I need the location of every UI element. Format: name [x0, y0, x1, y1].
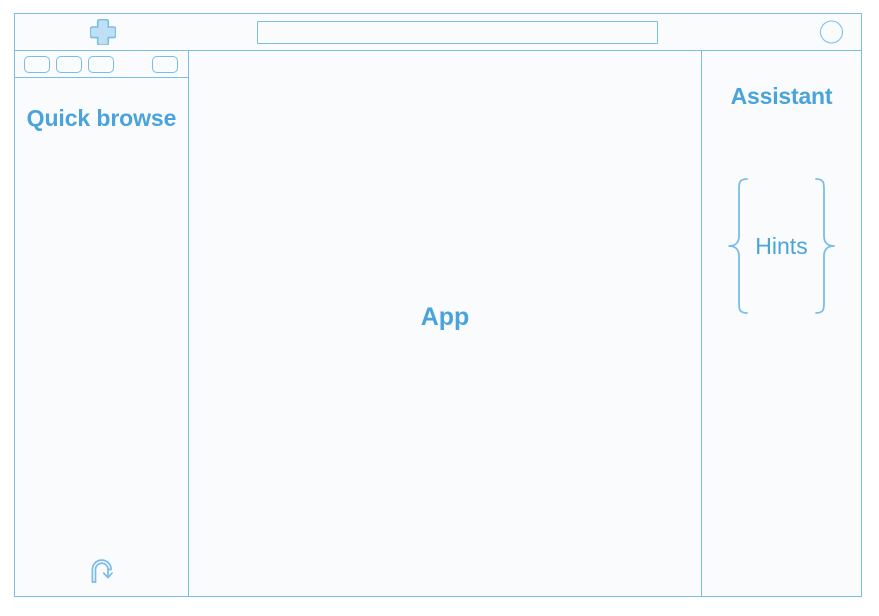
- uturn-arrow-glyph: [87, 557, 117, 587]
- browser-header-bar: [15, 14, 861, 51]
- quick-browse-heading: Quick browse: [15, 104, 188, 133]
- sidebar-tool-button-3[interactable]: [88, 56, 114, 73]
- sidebar-content: Quick browse: [15, 78, 188, 596]
- sidebar-tool-button-4[interactable]: [152, 56, 178, 73]
- sidebar-tool-button-2[interactable]: [56, 56, 82, 73]
- application-window: Quick browse App Assistant: [14, 13, 862, 597]
- plus-icon: [90, 19, 116, 45]
- hints-group: Hints: [725, 176, 837, 316]
- app-content-panel[interactable]: App: [189, 51, 702, 596]
- assistant-panel: Assistant Hints: [702, 51, 861, 596]
- hints-label: Hints: [755, 233, 807, 260]
- left-curly-brace-icon: [725, 176, 751, 316]
- right-curly-brace-icon: [812, 176, 838, 316]
- sidebar-tool-button-1[interactable]: [24, 56, 50, 73]
- new-tab-button[interactable]: [15, 14, 191, 50]
- quick-browse-sidebar: Quick browse: [15, 51, 189, 596]
- circle-avatar-icon[interactable]: [820, 21, 843, 44]
- window-body: Quick browse App Assistant: [15, 51, 861, 596]
- assistant-heading: Assistant: [731, 83, 833, 110]
- address-bar-input[interactable]: [257, 21, 658, 44]
- sidebar-footer: [15, 557, 188, 587]
- app-placeholder-label: App: [421, 303, 470, 332]
- undo-uturn-arrow-icon[interactable]: [87, 557, 117, 587]
- sidebar-toolbar: [15, 51, 188, 78]
